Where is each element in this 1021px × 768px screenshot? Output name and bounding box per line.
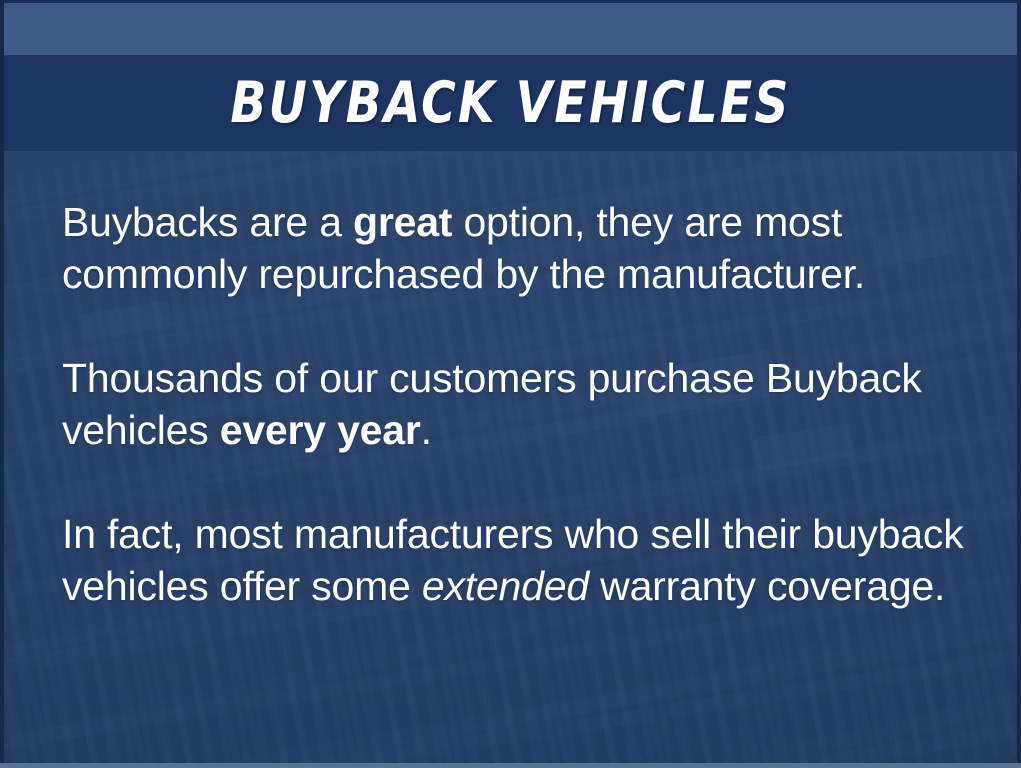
emphasis-italic: extended bbox=[422, 563, 589, 609]
emphasis-bold: every year bbox=[220, 407, 421, 453]
text-run: Thousands of our customers purchase Buyb… bbox=[62, 355, 922, 453]
frame-edge-right bbox=[1017, 0, 1021, 768]
body-copy: Buybacks are a great option, they are mo… bbox=[62, 196, 981, 612]
text-run: Buybacks are a bbox=[62, 199, 353, 245]
text-run: . bbox=[421, 407, 432, 453]
paragraph-3: In fact, most manufacturers who sell the… bbox=[62, 508, 981, 612]
emphasis-bold: great bbox=[353, 199, 452, 245]
text-run: warranty coverage. bbox=[589, 563, 945, 609]
paragraph-1: Buybacks are a great option, they are mo… bbox=[62, 196, 981, 300]
paragraph-2: Thousands of our customers purchase Buyb… bbox=[62, 352, 981, 456]
slide-root: BUYBACK VEHICLES Buybacks are a great op… bbox=[0, 0, 1021, 768]
frame-edge-top bbox=[0, 0, 1021, 3]
title-bar: BUYBACK VEHICLES bbox=[0, 55, 1021, 151]
page-title: BUYBACK VEHICLES bbox=[230, 75, 790, 132]
frame-edge-bottom bbox=[0, 763, 1021, 768]
header-band-light bbox=[0, 3, 1021, 55]
frame-edge-left bbox=[0, 0, 4, 768]
